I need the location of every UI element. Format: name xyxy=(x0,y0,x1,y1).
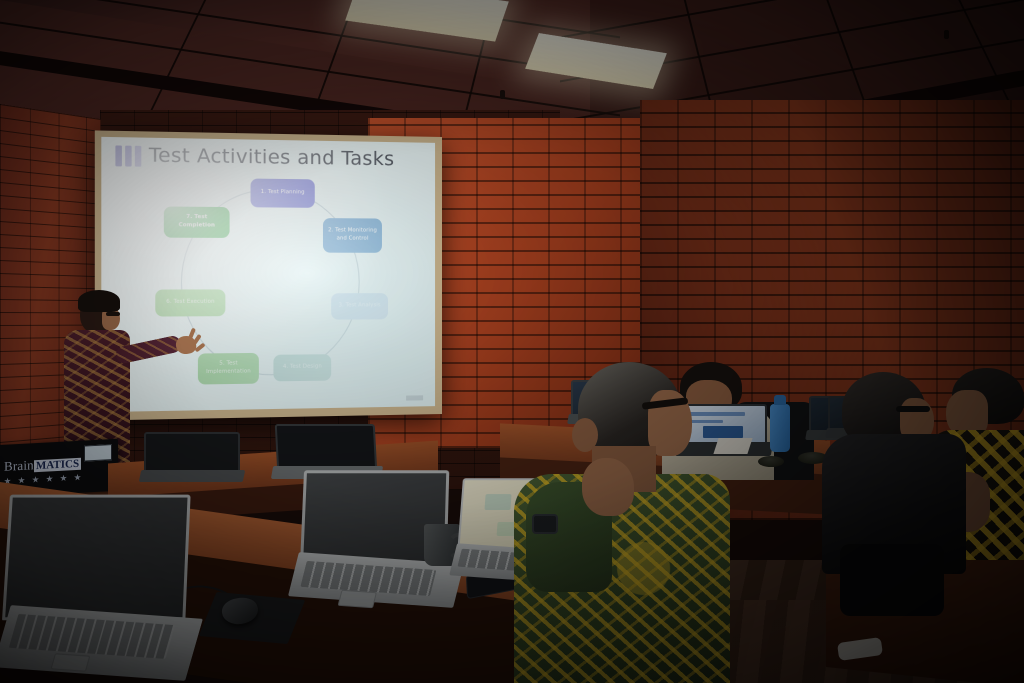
attendee-black-jacket xyxy=(828,372,958,622)
node-test-monitoring: 2. Test Monitoring and Control xyxy=(323,218,382,253)
attendee-hand xyxy=(582,458,634,516)
sprinkler-head-icon xyxy=(944,30,949,39)
attendee-glasses xyxy=(896,406,930,412)
node-test-completion: 7. Test Completion xyxy=(164,206,230,237)
laptop-foreground-left xyxy=(0,494,190,674)
brand-stars-icon xyxy=(4,474,81,485)
node-test-design: 4. Test Design xyxy=(273,354,331,381)
water-bottle xyxy=(770,404,790,452)
node-test-planning: 1. Test Planning xyxy=(251,179,315,208)
slide-footer-logo xyxy=(406,395,423,400)
slide-title: Test Activities and Tasks xyxy=(149,144,395,170)
brainmatics-logo: Brain MATICS xyxy=(4,455,81,475)
desk-tray xyxy=(758,456,784,467)
office-chair xyxy=(840,544,944,616)
brand-name-primary: Brain xyxy=(4,457,34,475)
laptop-row2-left xyxy=(140,432,240,484)
wristwatch xyxy=(532,514,558,534)
panel-display xyxy=(84,444,112,461)
training-room-photo: Test Activities and Tasks 1. Test Planni… xyxy=(0,0,1024,683)
presenter-glasses xyxy=(106,312,120,316)
presenter-hair xyxy=(78,290,120,312)
node-test-analysis: 3. Test Analysis xyxy=(331,293,388,320)
slide-accent-bars-icon xyxy=(115,145,141,166)
attendee-green-batik xyxy=(520,362,730,683)
sprinkler-head-icon xyxy=(500,90,505,99)
brand-name-secondary: MATICS xyxy=(34,458,81,472)
node-test-implementation: 5. Test Implementation xyxy=(198,353,259,385)
